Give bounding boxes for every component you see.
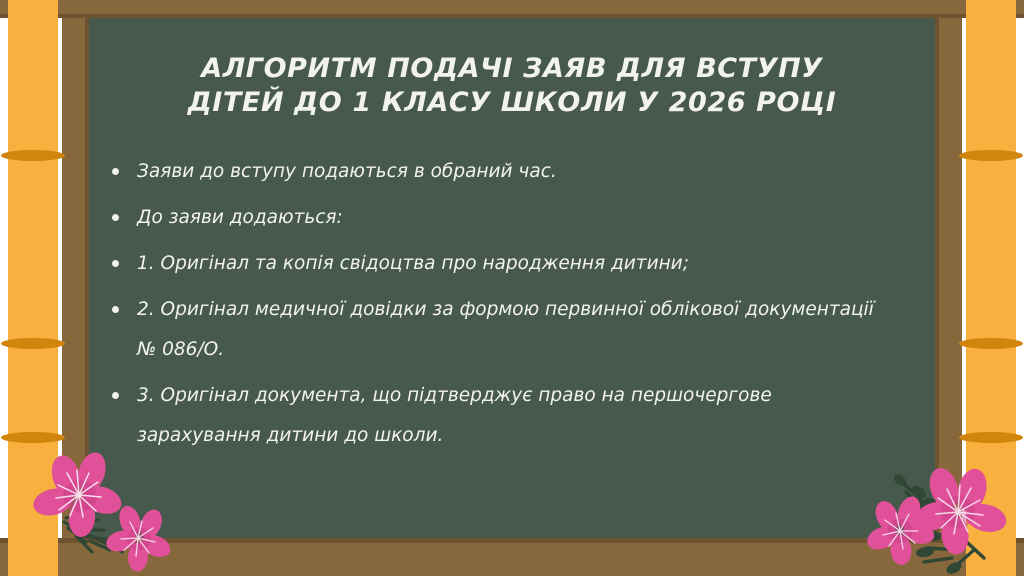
bamboo-node-icon bbox=[959, 338, 1023, 349]
list-item: 2. Оригінал медичної довідки за формою п… bbox=[106, 290, 896, 370]
slide-title: Алгоритм подачі заяв для вступу дітей до… bbox=[110, 52, 914, 120]
flower-cluster-bottom-right bbox=[862, 440, 1024, 576]
bullet-list: Заяви до вступу подаються в обраний час.… bbox=[106, 152, 896, 462]
slide-canvas: Алгоритм подачі заяв для вступу дітей до… bbox=[0, 0, 1024, 576]
flower-small-icon bbox=[104, 503, 174, 572]
list-item: 1. Оригінал та копія свідоцтва про народ… bbox=[106, 244, 896, 284]
bamboo-node-icon bbox=[959, 150, 1023, 161]
frame-inner-shadow-top bbox=[0, 14, 1024, 18]
flower-large-icon bbox=[30, 449, 125, 538]
slide-title-line-1: Алгоритм подачі заяв для вступу bbox=[110, 52, 914, 86]
list-item: Заяви до вступу подаються в обраний час. bbox=[106, 152, 896, 192]
slide-title-line-2: дітей до 1 класу школи у 2026 році bbox=[110, 86, 914, 120]
bamboo-node-icon bbox=[1, 150, 65, 161]
frame-border-top bbox=[0, 0, 1024, 14]
flower-cluster-bottom-left bbox=[6, 440, 176, 576]
list-item: До заяви додаються: bbox=[106, 198, 896, 238]
list-item: 3. Оригінал документа, що підтверджує пр… bbox=[106, 376, 896, 456]
bamboo-node-icon bbox=[1, 338, 65, 349]
